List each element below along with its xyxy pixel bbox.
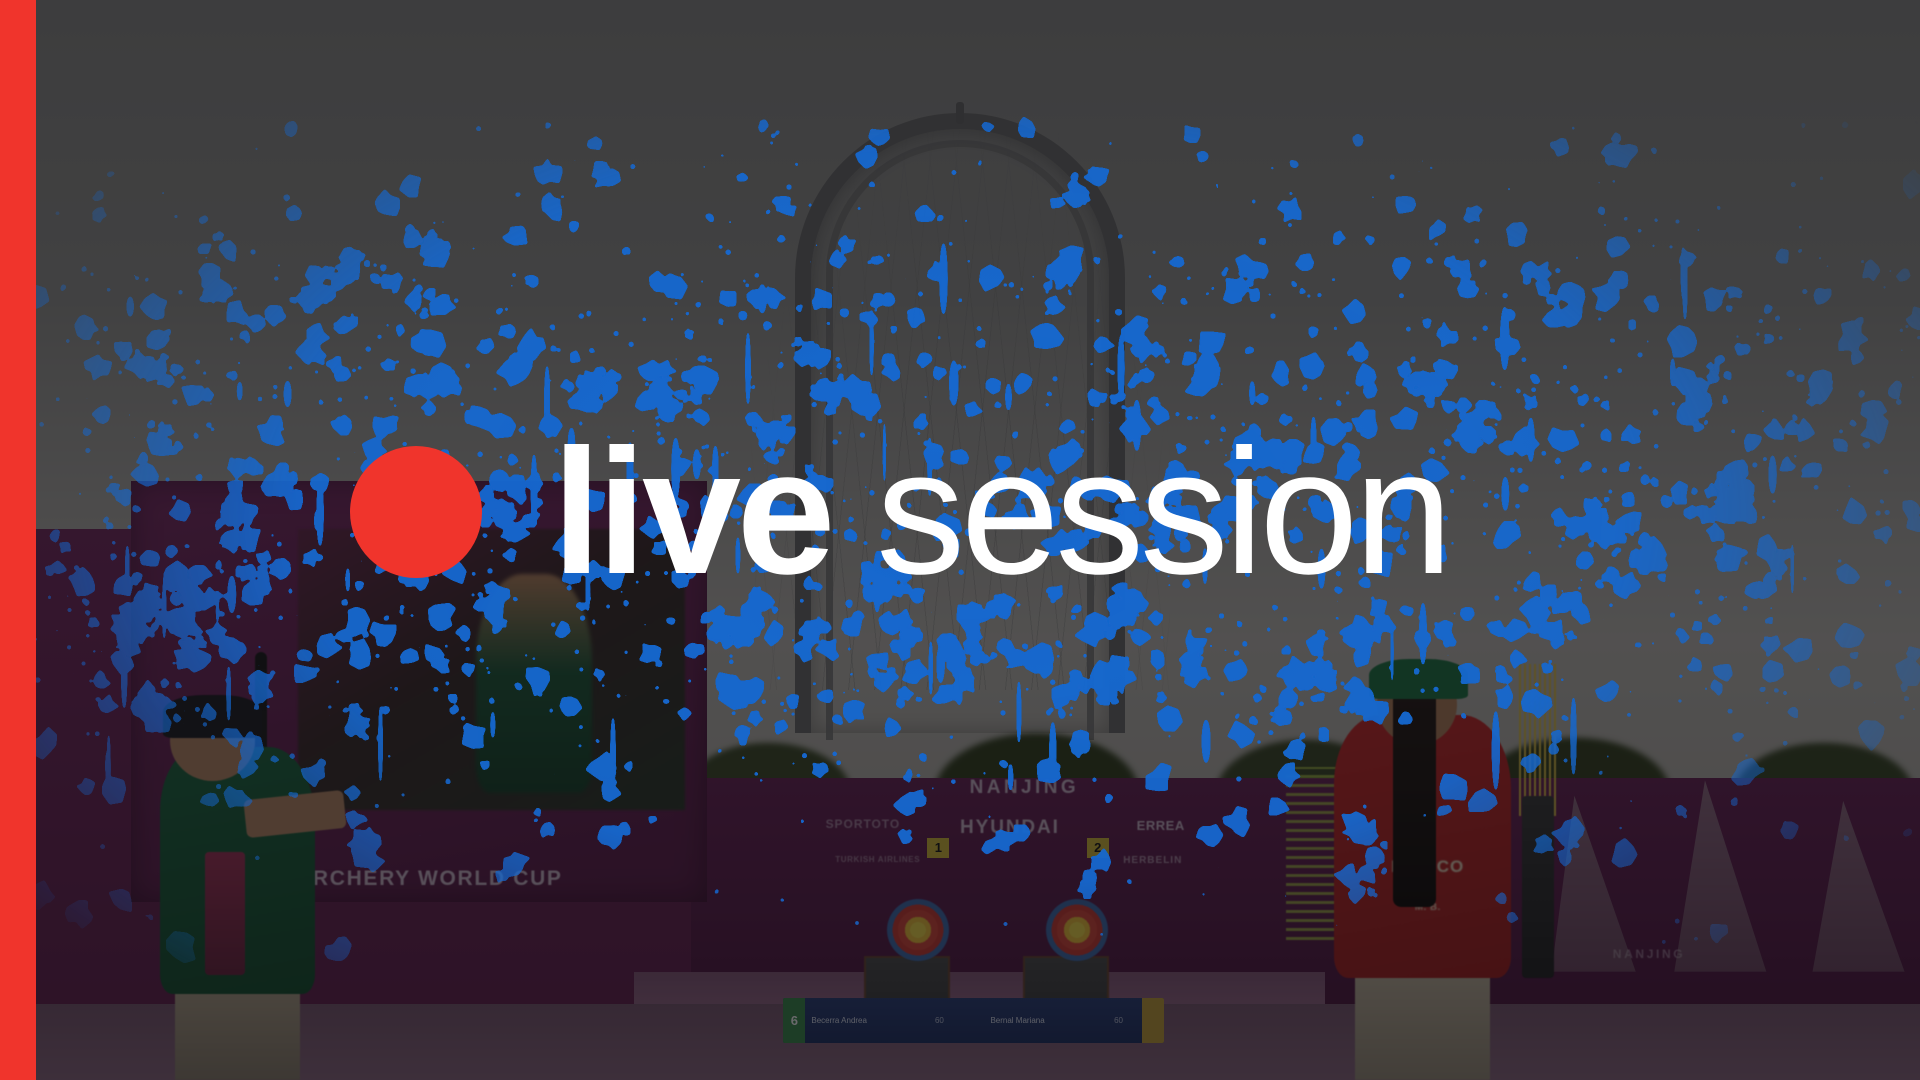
scoreboard-right-flag xyxy=(1142,998,1164,1043)
live-session-slide: WORLD ARCHERY WORLD CUP NANJING HYUNDAI … xyxy=(0,0,1920,1080)
athlete-left-cap xyxy=(163,695,263,738)
sportoto-sponsor-text: SPORTOTO xyxy=(826,817,901,831)
scoreboard-right-total: 60 xyxy=(1096,1016,1142,1025)
athlete-right-hair xyxy=(1393,684,1436,907)
nanjing-banner-text: NANJING xyxy=(970,777,1079,799)
target-number-2: 2 xyxy=(1087,838,1109,858)
headline-word-session: session xyxy=(876,412,1448,611)
athlete-right-quiver xyxy=(1522,796,1554,979)
scoreboard-left-athlete: Becerra Andrea xyxy=(805,1016,916,1025)
athlete-right-cap xyxy=(1369,659,1468,700)
athlete-left xyxy=(115,605,365,1080)
arch-tip xyxy=(956,102,964,124)
hyundai-banner-text: HYUNDAI xyxy=(960,817,1060,839)
headline-block: live session xyxy=(350,430,1449,594)
scoreboard-strip: 6 Becerra Andrea 60 Bernal Mariana 60 xyxy=(783,998,1163,1043)
scoreboard-set-number: 6 xyxy=(783,998,805,1043)
errea-sponsor-text: errea xyxy=(1137,818,1185,833)
live-dot-icon xyxy=(350,446,482,578)
herbelin-sponsor-text: HERBELIN xyxy=(1123,855,1182,866)
headline-word-live: live xyxy=(552,412,831,611)
headline-text: live session xyxy=(552,430,1449,594)
athlete-right: MEXICO M. B. xyxy=(1296,572,1565,1080)
scoreboard-right-athlete: Bernal Mariana xyxy=(984,1016,1095,1025)
turkish-airlines-sponsor-text: TURKISH AIRLINES xyxy=(835,855,920,864)
athlete-left-quiver xyxy=(205,852,245,976)
target-number-1: 1 xyxy=(927,838,949,858)
left-accent-bar xyxy=(0,0,36,1080)
archery-target-1 xyxy=(887,899,949,961)
scoreboard-left-total: 60 xyxy=(916,1016,962,1025)
athlete-right-arrows xyxy=(1519,664,1557,816)
